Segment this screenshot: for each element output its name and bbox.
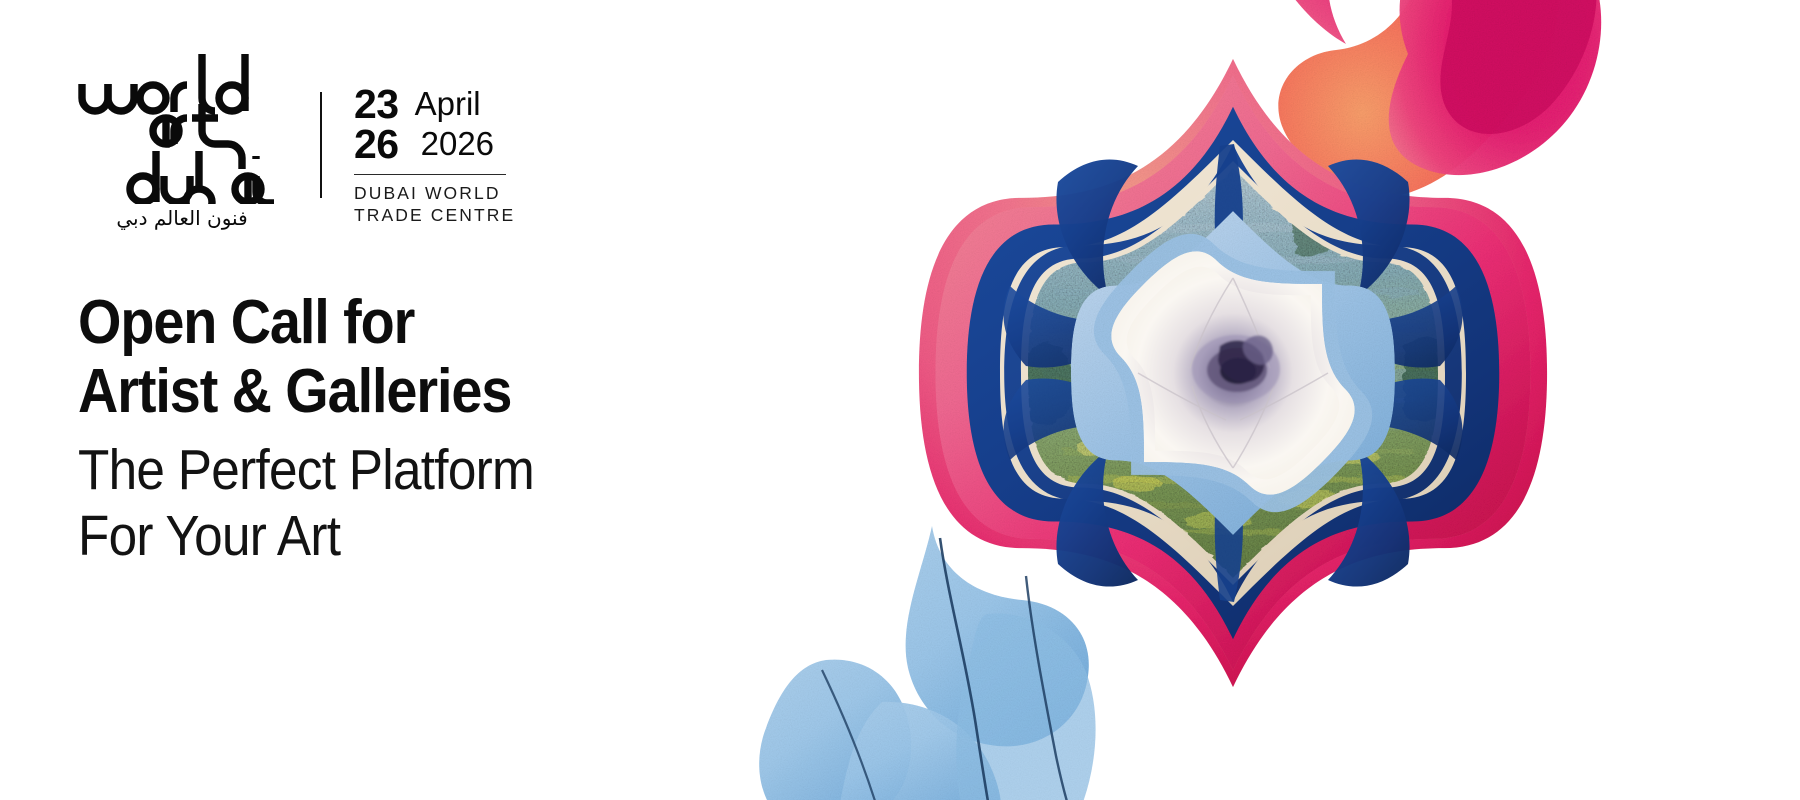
event-days: 23 26: [354, 84, 399, 164]
venue-rule: [354, 174, 506, 175]
brand-logo: فنون العالم دبي: [78, 52, 296, 230]
content-column: فنون العالم دبي 23 26 April 2026 DUBAI W…: [78, 52, 778, 569]
event-year: 2026: [415, 124, 494, 164]
world-art-dubai-logo-icon: [78, 52, 284, 204]
headline-line-1: Open Call for: [78, 288, 708, 357]
headline-block: Open Call for Artist & Galleries The Per…: [78, 288, 778, 569]
mandala-quatrefoil-artwork: [838, 28, 1628, 718]
venue-line-2: TRADE CENTRE: [354, 204, 515, 226]
event-month: April: [415, 84, 494, 124]
decor-watercolor-quatrefoil-blue-icon: [726, 464, 1146, 800]
logo-lockup: فنون العالم دبي 23 26 April 2026 DUBAI W…: [78, 52, 778, 230]
venue-line-1: DUBAI WORLD: [354, 182, 515, 204]
event-day-start: 23: [354, 84, 399, 124]
decor-watercolor-quatrefoil-pink-icon: [1150, 0, 1620, 288]
event-date-block: 23 26 April 2026 DUBAI WORLD TRADE CENTR…: [354, 52, 515, 226]
promo-banner: فنون العالم دبي 23 26 April 2026 DUBAI W…: [0, 0, 1800, 800]
logo-divider: [320, 92, 322, 198]
headline-line-4: For Your Art: [78, 503, 708, 569]
event-month-year: April 2026: [415, 84, 494, 165]
brand-arabic-subtitle: فنون العالم دبي: [82, 206, 282, 230]
event-day-end: 26: [354, 124, 399, 164]
headline-line-3: The Perfect Platform: [78, 437, 708, 503]
headline-line-2: Artist & Galleries: [78, 357, 708, 426]
